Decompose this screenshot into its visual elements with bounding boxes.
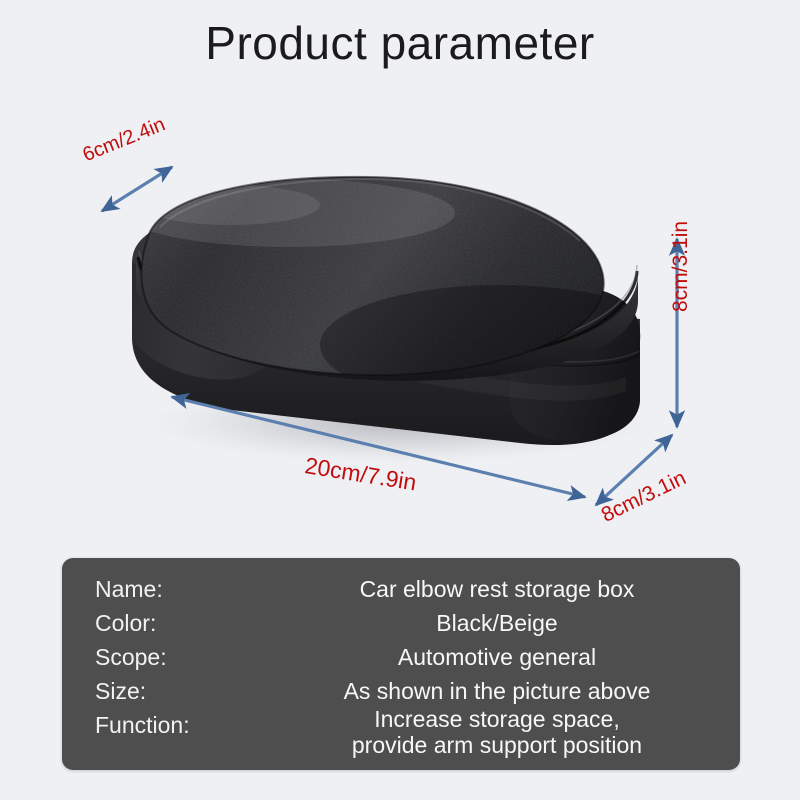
spec-value-size: As shown in the picture above [282, 674, 712, 708]
spec-row-name: Name: Car elbow rest storage box [62, 572, 740, 606]
spec-panel: Name: Car elbow rest storage box Color: … [62, 558, 740, 770]
spec-label-size: Size: [95, 674, 146, 708]
spec-value-color: Black/Beige [282, 606, 712, 640]
spec-label-color: Color: [95, 606, 156, 640]
spec-value-function-line2: provide arm support position [282, 732, 712, 758]
spec-value-function: Increase storage space, provide arm supp… [282, 706, 712, 758]
spec-label-scope: Scope: [95, 640, 167, 674]
spec-label-name: Name: [95, 572, 163, 606]
dimension-arrow-width [102, 167, 172, 211]
spec-value-function-line1: Increase storage space, [374, 706, 619, 732]
spec-row-function: Function: Increase storage space, provid… [62, 708, 740, 764]
spec-value-name: Car elbow rest storage box [282, 572, 712, 606]
spec-table: Name: Car elbow rest storage box Color: … [62, 558, 740, 770]
dimension-label-height: 8cm/3.1in [669, 221, 693, 312]
spec-row-scope: Scope: Automotive general [62, 640, 740, 674]
page-title: Product parameter [0, 18, 800, 69]
spec-row-size: Size: As shown in the picture above [62, 674, 740, 708]
spec-row-color: Color: Black/Beige [62, 606, 740, 640]
product-parameter-page: Product parameter [0, 0, 800, 800]
spec-value-scope: Automotive general [282, 640, 712, 674]
spec-label-function: Function: [95, 708, 190, 742]
